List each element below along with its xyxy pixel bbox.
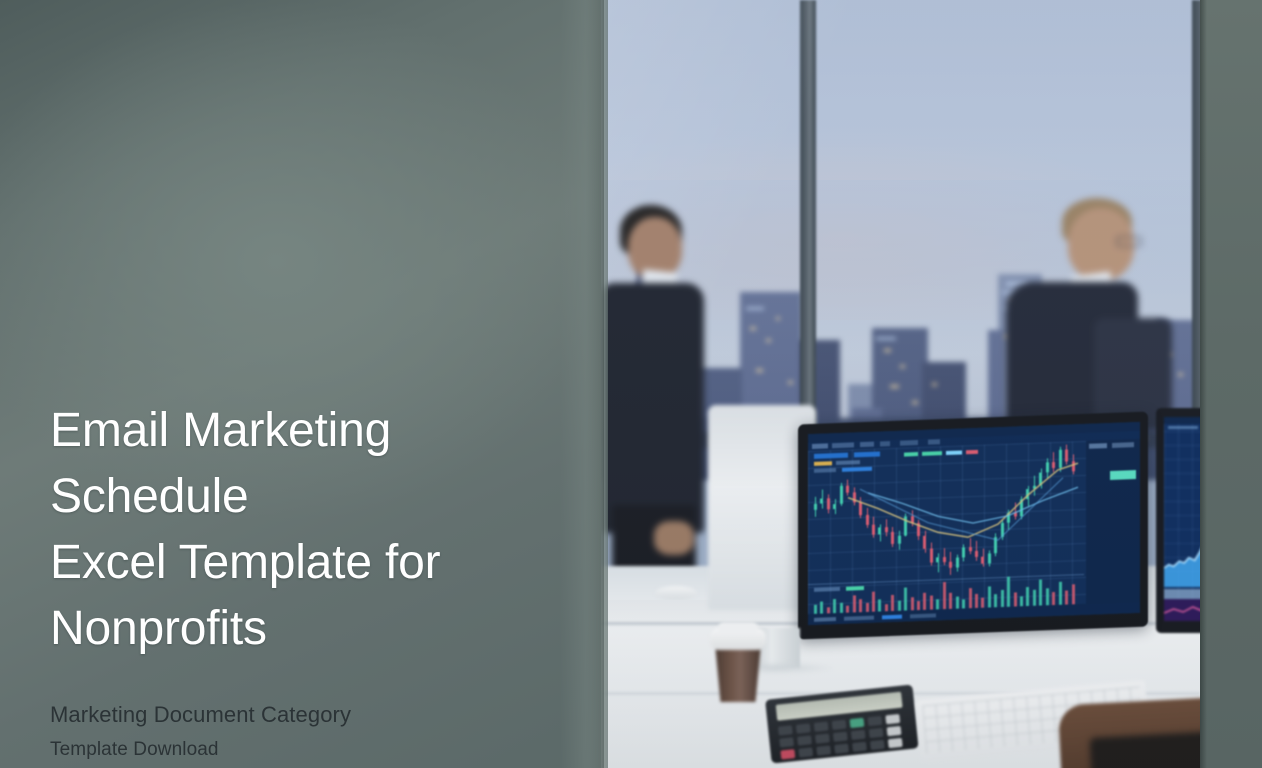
- title-line-2: Excel Template for: [50, 536, 440, 589]
- office-photo: [600, 0, 1200, 768]
- wall-edge-shadow: [586, 0, 604, 768]
- title-line-3: Nonprofits: [50, 602, 267, 655]
- order-book-panel: [1086, 439, 1140, 615]
- businessman-right: [998, 198, 1173, 433]
- page-title: Email Marketing Schedule Excel Template …: [50, 398, 580, 662]
- office-chair: [1058, 695, 1200, 768]
- secondary-area-chart: [1164, 501, 1200, 587]
- secondary-monitor: [1156, 408, 1200, 633]
- secondary-monitor-screen: [1164, 417, 1200, 621]
- right-wall-strip: [1200, 0, 1262, 768]
- moving-average-lines: [808, 441, 1084, 581]
- coffee-cup: [710, 620, 766, 702]
- category-label: Marketing Document Category: [50, 700, 580, 730]
- title-line-1: Email Marketing Schedule: [50, 404, 391, 523]
- slide-root: Email Marketing Schedule Excel Template …: [0, 0, 1262, 768]
- meta-block: Marketing Document Category Template Dow…: [50, 700, 580, 764]
- mouse: [655, 586, 697, 600]
- trading-monitor: [798, 418, 1148, 633]
- text-block: Email Marketing Schedule Excel Template …: [50, 398, 580, 764]
- order-book-highlight: [1110, 470, 1136, 480]
- download-label: Template Download: [50, 736, 580, 764]
- trading-monitor-screen: [808, 422, 1140, 625]
